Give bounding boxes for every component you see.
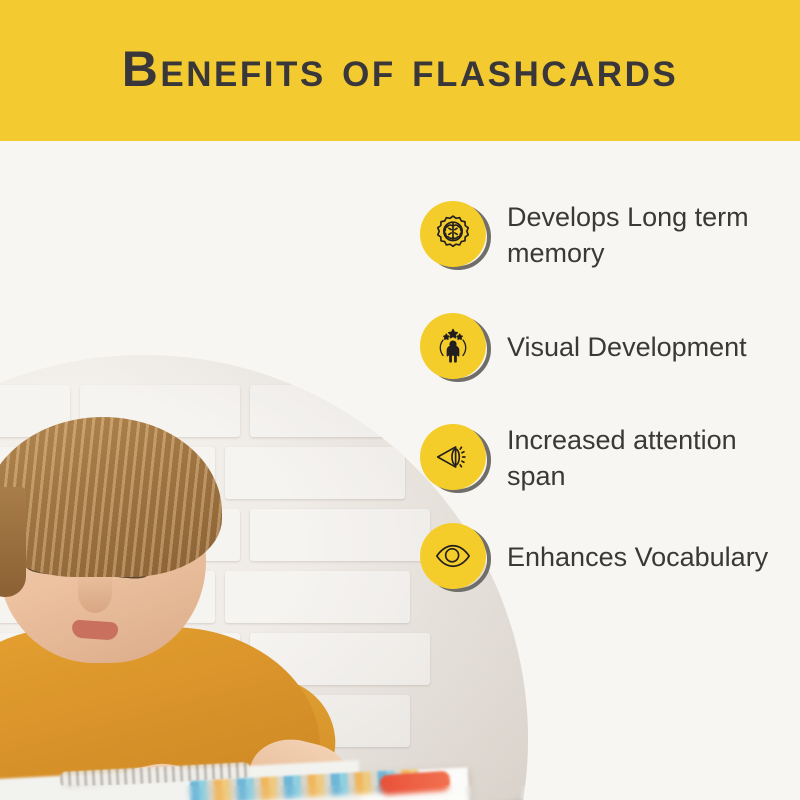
child-hair-side <box>0 487 26 597</box>
benefit-label: Enhances Vocabulary <box>507 540 768 576</box>
eye-icon <box>420 523 486 589</box>
gear-brain-icon <box>420 201 486 267</box>
benefit-item-visual-development[interactable]: Visual Development <box>420 313 747 383</box>
benefit-label: Visual Development <box>507 330 747 366</box>
child-mouth <box>71 619 118 640</box>
header-banner: Benefits of flashcards <box>0 0 800 141</box>
benefit-label: Increased attention span <box>507 423 799 494</box>
benefit-icon-badge <box>420 523 490 593</box>
benefit-item-increased-attention-span[interactable]: Increased attention span <box>420 423 799 494</box>
benefit-item-develops-long-term-memory[interactable]: Develops Long term memory <box>420 200 799 271</box>
benefit-label: Develops Long term memory <box>507 200 799 271</box>
eye-cone-rays-icon <box>420 424 486 490</box>
child-hair-highlights <box>0 417 222 577</box>
child-nose <box>78 573 112 613</box>
benefit-icon-badge <box>420 201 490 271</box>
benefit-icon-badge <box>420 424 490 494</box>
benefit-icon-badge <box>420 313 490 383</box>
benefit-item-enhances-vocabulary[interactable]: Enhances Vocabulary <box>420 523 768 593</box>
page-title: Benefits of flashcards <box>122 44 678 98</box>
child-figure <box>0 415 330 800</box>
person-stars-icon <box>420 313 486 379</box>
infographic-poster: Benefits of flashcards <box>0 0 800 800</box>
